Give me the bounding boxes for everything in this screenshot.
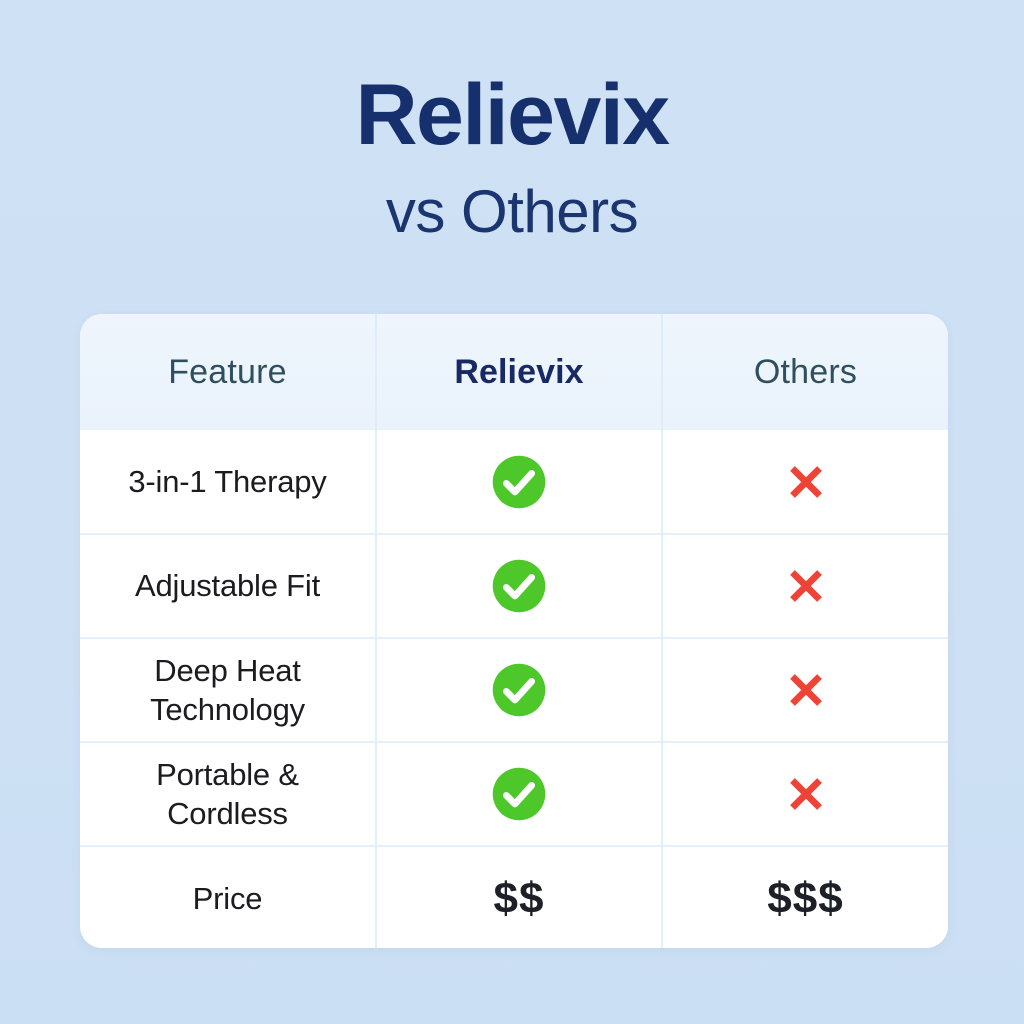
others-cell: $$$ [662,846,948,948]
relievix-cell [376,638,662,742]
feature-label: Adjustable Fit [80,534,376,638]
table-row: Adjustable Fit [80,534,948,638]
table-body: 3-in-1 Therapy [80,430,948,948]
table-header: Feature Relievix Others [80,314,948,430]
price-value-relievix: $$ [494,874,545,923]
relievix-cell [376,742,662,846]
relievix-cell: $$ [376,846,662,948]
feature-label-line: Portable & [156,757,299,792]
check-circle-icon [490,453,548,511]
check-circle-icon [490,661,548,719]
comparison-table-card: Feature Relievix Others 3-in-1 Therapy [80,314,948,948]
cross-icon [782,666,830,714]
table-header-row: Feature Relievix Others [80,314,948,430]
feature-label: Portable & Cordless [80,742,376,846]
page-title: Relievix [0,72,1024,158]
feature-label-line: Technology [150,692,305,727]
feature-label: Price [80,846,376,948]
check-circle-icon [490,557,548,615]
price-value-others: $$$ [767,874,843,923]
column-header-others: Others [662,314,948,430]
cross-icon [782,770,830,818]
others-cell [662,534,948,638]
check-circle-icon [490,765,548,823]
relievix-cell [376,534,662,638]
column-header-relievix: Relievix [376,314,662,430]
cross-icon [782,458,830,506]
page-subtitle: vs Others [0,182,1024,242]
cross-icon [782,562,830,610]
table-row: 3-in-1 Therapy [80,430,948,534]
feature-label: Deep Heat Technology [80,638,376,742]
feature-label-line: Deep Heat [154,653,300,688]
feature-label-line: Cordless [167,796,288,831]
comparison-poster: Relievix vs Others Feature Relievix Othe… [0,0,1024,1024]
others-cell [662,638,948,742]
table-row: Deep Heat Technology [80,638,948,742]
relievix-cell [376,430,662,534]
table-row: Price $$ $$$ [80,846,948,948]
others-cell [662,430,948,534]
title-block: Relievix vs Others [0,72,1024,242]
table-row: Portable & Cordless [80,742,948,846]
feature-label: 3-in-1 Therapy [80,430,376,534]
others-cell [662,742,948,846]
comparison-table: Feature Relievix Others 3-in-1 Therapy [80,314,948,948]
column-header-feature: Feature [80,314,376,430]
